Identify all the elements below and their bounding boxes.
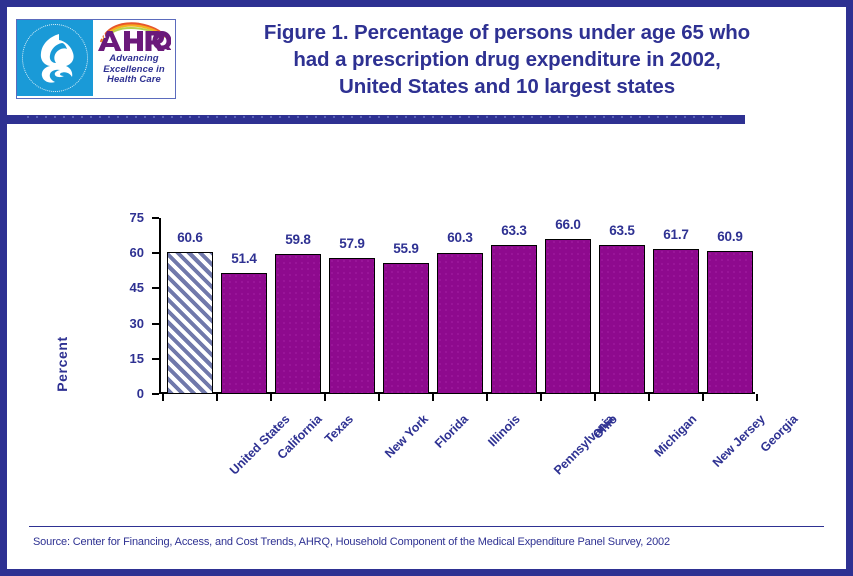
source-note: Source: Center for Financing, Access, an…	[33, 536, 833, 548]
x-tick-mark	[216, 394, 218, 401]
y-tick-mark	[152, 323, 159, 325]
y-tick-label: 0	[104, 386, 144, 401]
y-axis-tick-labels: 75604530150	[104, 124, 144, 404]
x-tick-mark	[270, 394, 272, 401]
y-tick-mark	[152, 252, 159, 254]
figure-title: Figure 1. Percentage of persons under ag…	[187, 19, 827, 100]
footer-divider	[29, 526, 824, 527]
x-axis-label-florida: Florida	[432, 412, 471, 451]
ahrq-logo-block: Advancing Excellence in Health Care	[93, 20, 175, 98]
y-axis-label: Percent	[54, 304, 70, 424]
figure-title-line1: Figure 1. Percentage of persons under ag…	[187, 19, 827, 46]
y-tick-label: 15	[104, 351, 144, 366]
x-tick-mark	[486, 394, 488, 401]
y-tick-mark	[152, 358, 159, 360]
x-tick-mark	[540, 394, 542, 401]
x-tick-mark	[594, 394, 596, 401]
x-tick-mark	[378, 394, 380, 401]
bar-value-label: 55.9	[376, 241, 436, 256]
bar-new-jersey	[653, 249, 699, 394]
x-axis-label-new-york: New York	[382, 412, 431, 461]
x-axis-label-ohio: Ohio	[590, 412, 620, 442]
x-tick-mark	[648, 394, 650, 401]
x-axis-label-michigan: Michigan	[652, 412, 700, 460]
bar-new-york	[329, 258, 375, 394]
bar-value-label: 61.7	[646, 227, 706, 242]
y-tick-label: 60	[104, 245, 144, 260]
page-header: Advancing Excellence in Health Care Figu…	[7, 7, 846, 113]
x-tick-mark	[162, 394, 164, 401]
figure-title-line2: had a prescription drug expenditure in 2…	[187, 46, 827, 73]
x-tick-mark	[702, 394, 704, 401]
bar-value-label: 57.9	[322, 236, 382, 251]
x-axis-label-new-jersey: New Jersey	[710, 412, 768, 470]
x-tick-mark	[756, 394, 758, 401]
bar-value-label: 63.3	[484, 223, 544, 238]
figure-page: Advancing Excellence in Health Care Figu…	[0, 0, 853, 576]
figure-title-line3: United States and 10 largest states	[187, 73, 827, 100]
ahrq-tagline-line1: Advancing	[103, 54, 165, 65]
bar-value-label: 60.3	[430, 230, 490, 245]
bar-texas	[275, 254, 321, 394]
header-divider-highlight	[27, 116, 727, 118]
bar-value-label: 63.5	[592, 223, 652, 238]
bar-california	[221, 273, 267, 394]
hhs-seal-icon	[17, 20, 93, 96]
bar-value-label: 60.9	[700, 229, 760, 244]
y-tick-mark	[152, 217, 159, 219]
y-tick-mark	[152, 393, 159, 395]
x-axis-label-texas: Texas	[322, 412, 356, 446]
hhs-eagle-icon	[29, 30, 81, 88]
bar-value-label: 59.8	[268, 232, 328, 247]
y-tick-label: 75	[104, 210, 144, 225]
bar-florida	[383, 263, 429, 394]
x-tick-mark	[324, 394, 326, 401]
y-tick-mark	[152, 287, 159, 289]
bar-pennsylvania	[491, 245, 537, 394]
ahrq-tagline-line3: Health Care	[103, 75, 165, 86]
bar-michigan	[599, 245, 645, 394]
ahrq-wordmark-icon	[97, 30, 171, 52]
bar-united-states	[167, 252, 213, 394]
bar-chart: Percent 75604530150 60.6United States51.…	[7, 124, 846, 514]
ahrq-tagline: Advancing Excellence in Health Care	[103, 54, 165, 86]
x-axis-label-illinois: Illinois	[485, 412, 522, 449]
bar-ohio	[545, 239, 591, 394]
bar-illinois	[437, 253, 483, 395]
bar-value-label: 51.4	[214, 251, 274, 266]
x-tick-mark	[432, 394, 434, 401]
bar-value-label: 66.0	[538, 217, 598, 232]
bar-georgia	[707, 251, 753, 394]
bar-value-label: 60.6	[160, 230, 220, 245]
ahrq-hhs-logo: Advancing Excellence in Health Care	[16, 19, 176, 99]
y-tick-label: 30	[104, 316, 144, 331]
y-tick-label: 45	[104, 280, 144, 295]
